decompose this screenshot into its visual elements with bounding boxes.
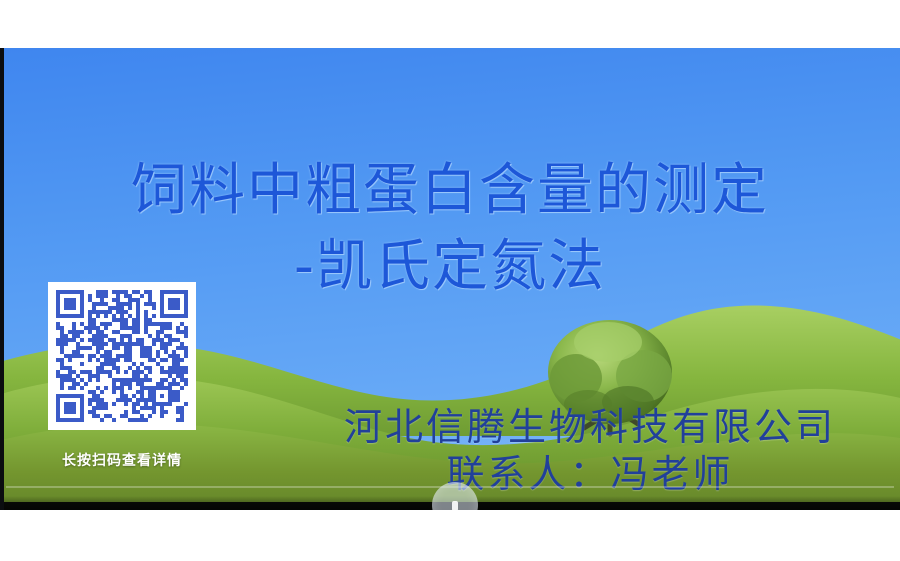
video-player[interactable]: 饲料中粗蛋白含量的测定 -凯氏定氮法 河北信腾生物科技有限公司 联系人：冯老师 … [0,48,900,510]
qr-code-block[interactable]: 长按扫码查看详情 [48,282,196,470]
qr-code-image[interactable] [56,290,188,422]
qr-caption: 长按扫码查看详情 [48,450,196,470]
spinner-core [452,501,458,510]
company-name: 河北信腾生物科技有限公司 [300,404,880,450]
qr-code-card[interactable] [48,282,196,430]
contact-person-name: 冯老师 [611,452,734,496]
contact-person-line: 联系人：冯老师 [300,450,880,498]
slide-title-main: 饲料中粗蛋白含量的测定 [0,160,900,222]
left-letterbox-bar [0,48,4,510]
company-contact-block: 河北信腾生物科技有限公司 联系人：冯老师 联系电话：13520054632 [300,404,880,510]
